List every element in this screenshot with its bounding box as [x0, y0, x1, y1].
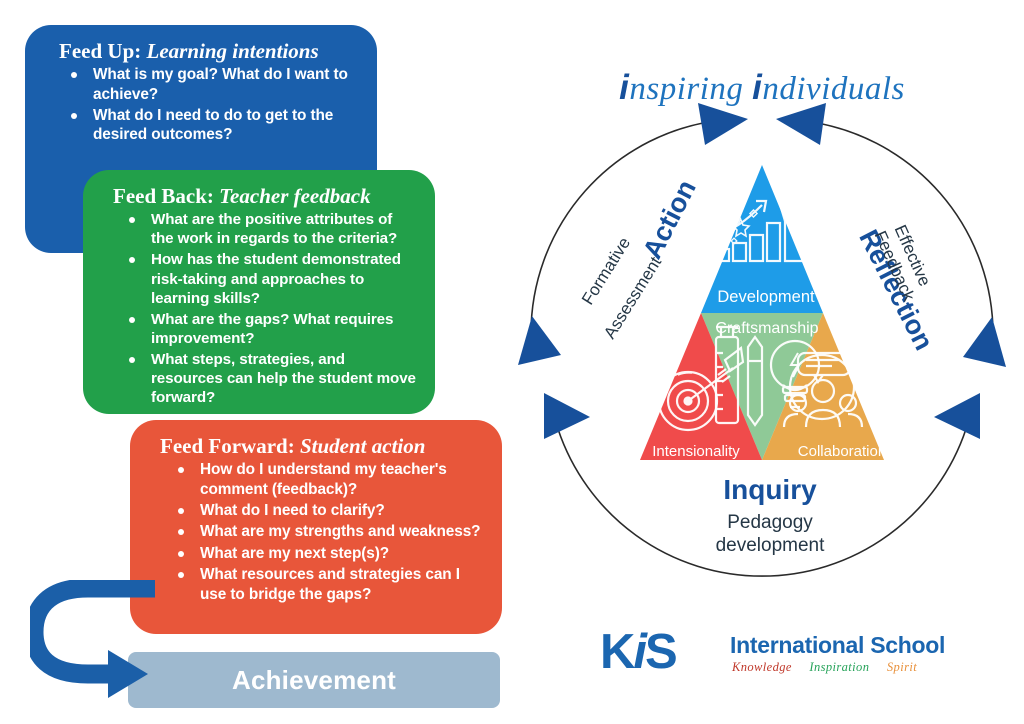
cycle-label-inquiry: Inquiry: [700, 474, 840, 506]
arrow-head-mid-left: [518, 316, 561, 365]
card-feed-back-title-lead: Feed Back:: [113, 184, 214, 208]
card-feed-up-title-lead: Feed Up:: [59, 39, 141, 63]
list-item: What do I need to do to get to the desir…: [93, 106, 359, 145]
kis-mark-i: i: [633, 625, 645, 679]
arrow-head-top-right: [776, 103, 826, 145]
kis-mark-s: S: [645, 625, 676, 679]
list-item: What is my goal? What do I want to achie…: [93, 65, 359, 104]
kis-logo: KiS International School Knowledge Inspi…: [590, 620, 950, 680]
list-item: What do I need to clarify?: [200, 501, 484, 520]
achievement-label: Achievement: [232, 665, 396, 696]
arrow-head-mid-right: [963, 317, 1006, 367]
triangle-label-craftsmanship: Craftsmanship: [692, 320, 842, 338]
card-feed-back-title-emphasis: Teacher feedback: [219, 184, 370, 208]
card-feed-forward: Feed Forward: Student action How do I un…: [130, 420, 502, 634]
kis-tagline-inspiration: Inspiration: [809, 660, 869, 674]
triangle-label-development: Development: [706, 288, 826, 307]
tagline-i1: i: [619, 68, 629, 107]
tagline-i2: i: [752, 68, 762, 107]
triangle-label-collaboration: Collaboration: [782, 443, 902, 460]
triangle-label-intensionality: Intensionality: [634, 443, 758, 460]
pedagogy-cycle-diagram: [500, 35, 1024, 655]
card-feed-forward-title-lead: Feed Forward:: [160, 434, 295, 458]
infographic-canvas: Feed Up: Learning intentions What is my …: [0, 0, 1024, 724]
list-item: How has the student demonstrated risk-ta…: [151, 250, 417, 307]
list-item: What are my next step(s)?: [200, 544, 484, 563]
kis-mark-k: K: [600, 625, 633, 679]
card-feed-up-bullet-list: What is my goal? What do I want to achie…: [43, 65, 359, 145]
card-feed-up-title-emphasis: Learning intentions: [147, 39, 319, 63]
curved-loop-arrow-icon: [30, 580, 170, 710]
card-feed-forward-title-emphasis: Student action: [300, 434, 425, 458]
arrow-head-bottom-left: [544, 393, 590, 439]
kis-logo-name: International School: [730, 632, 945, 659]
achievement-banner: Achievement: [128, 652, 500, 708]
cycle-sublabel-pedagogy-development: Pedagogy development: [690, 512, 850, 558]
tagline-word2: ndividuals: [762, 71, 905, 107]
kis-tagline-knowledge: Knowledge: [732, 660, 792, 674]
list-item: What resources and strategies can I use …: [200, 565, 484, 604]
card-feed-back-title: Feed Back: Teacher feedback: [101, 184, 417, 208]
card-feed-back-bullet-list: What are the positive attributes of the …: [101, 210, 417, 407]
pedagogy-line-1: Pedagogy: [690, 512, 850, 535]
kis-logo-mark: KiS: [600, 624, 676, 680]
pedagogy-line-2: development: [690, 535, 850, 558]
arrow-head-bottom-right: [934, 393, 980, 439]
list-item: What steps, strategies, and resources ca…: [151, 350, 417, 407]
list-item: What are the positive attributes of the …: [151, 210, 417, 248]
arrow-head-top-left: [698, 103, 748, 145]
list-item: What are the gaps? What requires improve…: [151, 310, 417, 348]
kis-tagline-spirit: Spirit: [887, 660, 917, 674]
card-feed-forward-bullet-list: How do I understand my teacher's comment…: [148, 460, 484, 604]
page-tagline: inspiring individuals: [500, 68, 1024, 108]
list-item: How do I understand my teacher's comment…: [200, 460, 484, 499]
card-feed-up-title: Feed Up: Learning intentions: [43, 39, 359, 63]
kis-logo-tagline: Knowledge Inspiration Spirit: [732, 660, 931, 675]
tagline-word1: nspiring: [629, 71, 743, 107]
card-feed-back: Feed Back: Teacher feedback What are the…: [83, 170, 435, 414]
card-feed-forward-title: Feed Forward: Student action: [148, 434, 484, 458]
list-item: What are my strengths and weakness?: [200, 522, 484, 541]
